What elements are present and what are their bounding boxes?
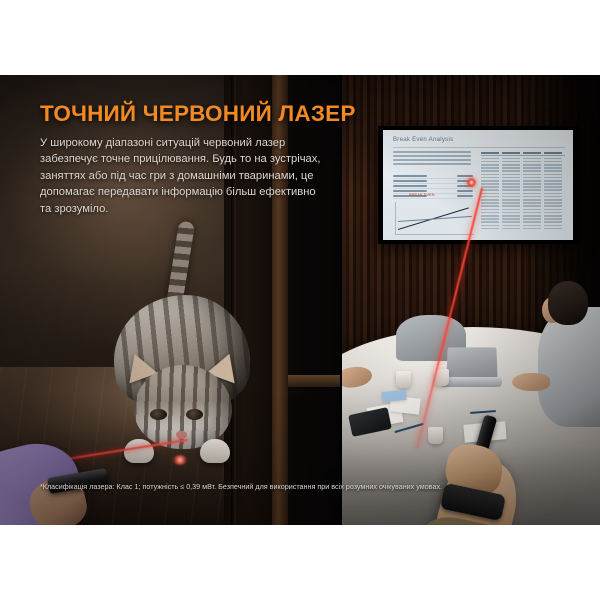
slide-title: Break Even Analysis xyxy=(393,137,453,143)
cat-paw-left xyxy=(124,439,154,463)
table-row xyxy=(481,202,565,204)
cat-eye-left xyxy=(150,409,167,420)
feature-banner-image: Break Even Analysis BREAK EVEN xyxy=(0,75,600,525)
feature-description: У широкому діапазоні ситуацій червоний л… xyxy=(40,135,322,217)
slide-line-chart xyxy=(395,202,474,235)
table-row xyxy=(481,170,565,172)
table-row xyxy=(481,209,565,211)
table-row xyxy=(481,212,565,214)
person-seated-right-head xyxy=(548,281,588,325)
laptop-screen xyxy=(446,347,497,379)
table-row xyxy=(481,167,565,169)
table-header-row xyxy=(481,152,565,156)
product-feature-banner-page: Break Even Analysis BREAK EVEN xyxy=(0,0,600,600)
panel-divider xyxy=(340,75,342,525)
cat-nose xyxy=(176,431,187,439)
table-row xyxy=(481,180,565,182)
laptop-keyboard xyxy=(440,377,502,387)
cabinet-shelf xyxy=(288,375,340,387)
table-row xyxy=(481,161,565,163)
table-row xyxy=(481,177,565,179)
table-row xyxy=(481,189,565,191)
table-row xyxy=(481,174,565,176)
presentation-slide: Break Even Analysis BREAK EVEN xyxy=(383,130,573,240)
table-row xyxy=(481,164,565,166)
table-row xyxy=(481,221,565,223)
table-row xyxy=(481,158,565,160)
table-row xyxy=(481,218,565,220)
table-row xyxy=(481,228,565,230)
table-row xyxy=(481,199,565,201)
mug-icon xyxy=(396,371,411,388)
laser-dot-icon xyxy=(467,178,476,187)
table-row xyxy=(481,215,565,217)
presentation-display: Break Even Analysis BREAK EVEN xyxy=(378,126,578,244)
person-hands-on-table xyxy=(512,373,550,391)
table-row xyxy=(481,196,565,198)
mug-icon xyxy=(428,427,443,444)
person-seated-right-body xyxy=(538,307,600,427)
table-row xyxy=(481,205,565,207)
laptop-icon xyxy=(440,347,502,389)
page-title: ТОЧНИЙ ЧЕРВОНИЙ ЛАЗЕР xyxy=(40,101,356,127)
slide-data-table xyxy=(481,152,565,229)
cat-paw-right xyxy=(200,439,230,463)
table-row xyxy=(481,186,565,188)
table-row xyxy=(481,193,565,195)
table-row xyxy=(481,183,565,185)
laser-dot-icon xyxy=(172,455,188,465)
conference-room-panel: Break Even Analysis BREAK EVEN xyxy=(342,75,600,525)
table-row xyxy=(481,225,565,227)
slide-chart-label: BREAK EVEN xyxy=(409,192,435,197)
cat-eye-right xyxy=(186,409,203,420)
slide-paragraph xyxy=(393,151,471,167)
laser-safety-disclaimer: *Класифікація лазера: Клас 1; потужність… xyxy=(40,481,570,492)
cat xyxy=(108,273,278,473)
slide-title-rule xyxy=(393,147,565,148)
